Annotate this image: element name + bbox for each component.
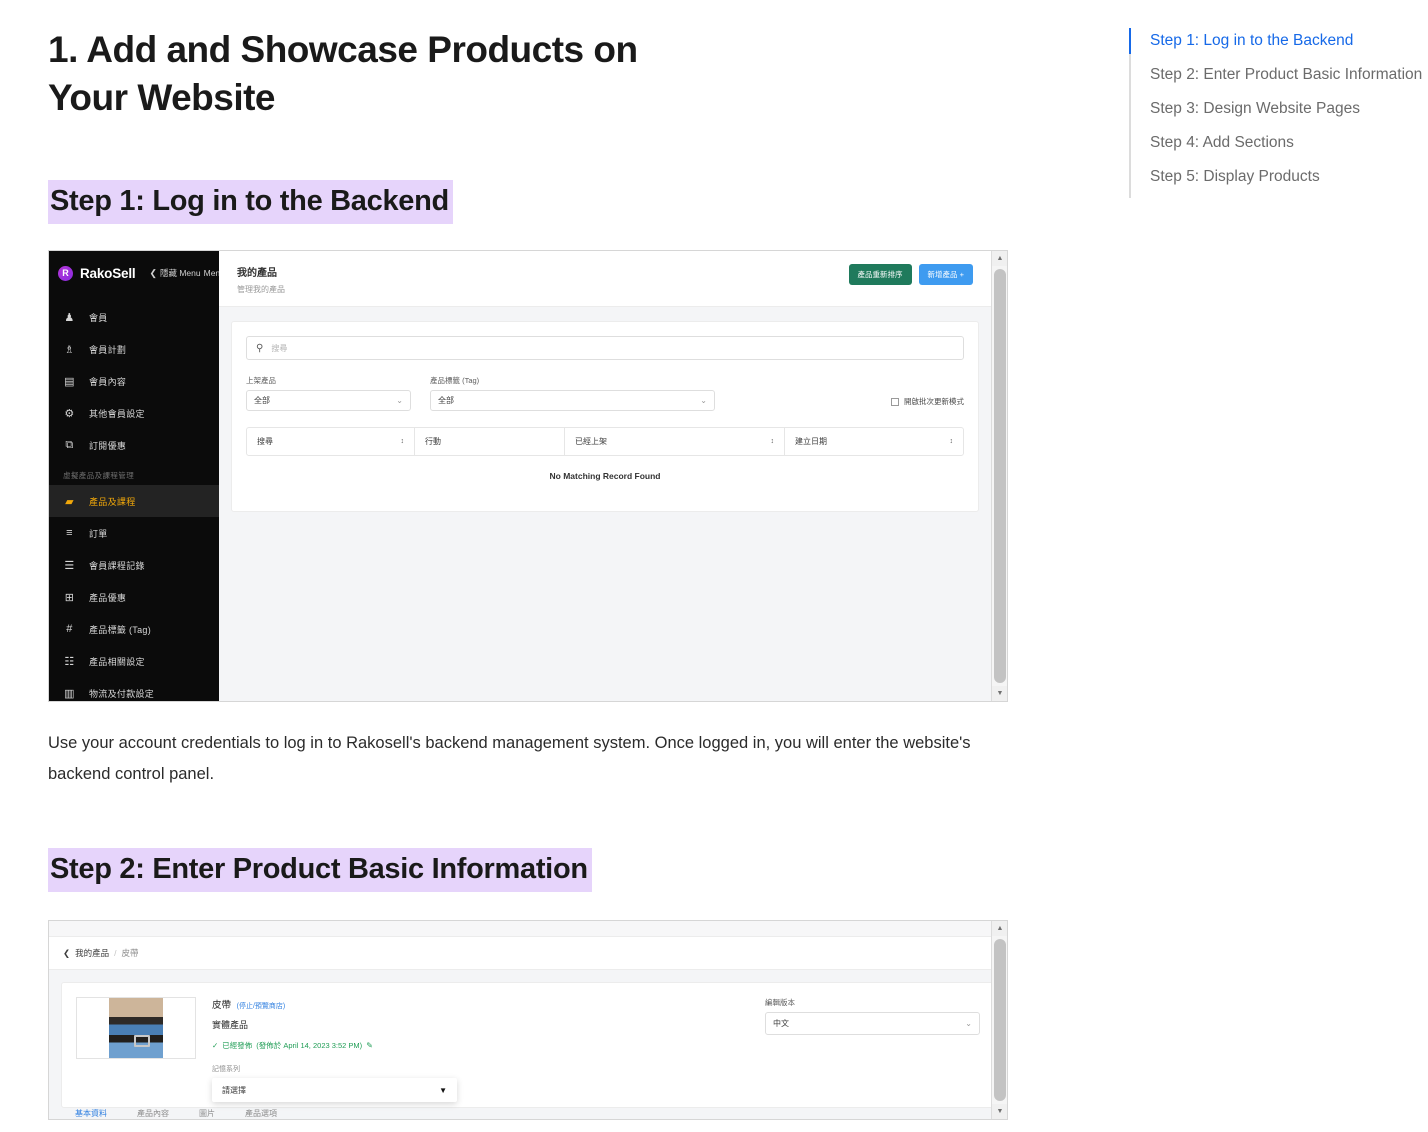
sidebar-item-subscription-offers[interactable]: ⧉ 訂閱優惠 xyxy=(49,429,219,461)
sidebar-item-member-course-records[interactable]: ☰ 會員課程記錄 xyxy=(49,549,219,581)
sidebar-item-product-settings[interactable]: ☷ 產品相關設定 xyxy=(49,645,219,677)
truck-icon: ▥ xyxy=(63,687,76,700)
hash-icon: # xyxy=(63,623,76,635)
tab-images[interactable]: 圖片 xyxy=(199,1108,215,1119)
rakosell-logo-icon: R xyxy=(58,266,73,281)
product-list-subtitle: 管理我的產品 xyxy=(237,284,285,295)
product-name: 皮帶 xyxy=(212,1000,231,1011)
edit-pencil-icon[interactable]: ✎ xyxy=(366,1041,373,1050)
products-table: 搜尋 ↕ 行動 已經上架 ↕ 建立日期 xyxy=(246,427,964,456)
toc-item-step-3[interactable]: Step 3: Design Website Pages xyxy=(1150,96,1428,121)
select-value: 全部 xyxy=(438,395,454,406)
batch-update-label: 開啟批次更新模式 xyxy=(904,396,964,407)
product-detail-tabs: 基本資料 產品內容 圖片 產品選項 xyxy=(75,1108,277,1119)
chevron-down-icon: ⌄ xyxy=(700,396,707,405)
tab-product-options[interactable]: 產品選項 xyxy=(245,1108,277,1119)
filter-product-tag: 產品標籤 (Tag) 全部 ⌄ xyxy=(430,375,715,411)
breadcrumb: ❮ 我的產品 / 皮帶 xyxy=(49,937,1007,970)
hide-menu-label: 隱藏 Menu xyxy=(160,267,201,279)
publish-status: ✓ 已經發佈 (發佈於 April 14, 2023 3:52 PM) ✎ xyxy=(212,1040,749,1051)
variant-value: 請選擇 xyxy=(222,1085,246,1096)
gear-icon: ⚙ xyxy=(63,407,76,420)
toc-item-step-1[interactable]: Step 1: Log in to the Backend xyxy=(1150,28,1428,53)
col-label: 建立日期 xyxy=(795,436,827,447)
sidebar-label: 會員 xyxy=(89,311,108,324)
product-detail-body: 皮帶 (停止/預覽商店) 實體產品 ✓ 已經發佈 (發佈於 April 14, … xyxy=(49,970,1007,1120)
sidebar-group-label: 虛擬產品及課程管理 xyxy=(49,470,219,481)
screenshot-backend-product-list: R RakoSell ❮ 隱藏 Menu Menu ♟ 會員 ♗ xyxy=(48,250,1008,702)
scroll-down-icon[interactable]: ▼ xyxy=(992,1104,1008,1119)
breadcrumb-current: 皮帶 xyxy=(122,947,139,959)
toc-item-step-5[interactable]: Step 5: Display Products xyxy=(1150,164,1428,189)
listed-products-select[interactable]: 全部 ⌄ xyxy=(246,390,411,411)
chevron-left-icon: ❮ xyxy=(149,268,157,279)
folder-icon: ▰ xyxy=(63,495,76,508)
table-col-action: 行動 xyxy=(415,428,565,455)
check-icon: ✓ xyxy=(212,1041,218,1050)
screenshot1-scrollbar[interactable]: ▲ ▼ xyxy=(991,251,1007,701)
filter-label: 產品標籤 (Tag) xyxy=(430,375,715,386)
filter-row: 上架產品 全部 ⌄ 產品標籤 (Tag) 全部 ⌄ xyxy=(246,375,964,411)
sidebar-label: 會員課程記錄 xyxy=(89,559,145,572)
chevron-down-icon: ⌄ xyxy=(965,1019,972,1028)
sidebar-label: 產品標籤 (Tag) xyxy=(89,623,151,636)
sidebar-item-shipping-payment[interactable]: ▥ 物流及付款設定 xyxy=(49,677,219,702)
col-label: 已經上架 xyxy=(575,436,607,447)
tag-icon: ⧉ xyxy=(63,439,76,452)
tab-product-content[interactable]: 產品內容 xyxy=(137,1108,169,1119)
sidebar-item-other-member-settings[interactable]: ⚙ 其他會員設定 xyxy=(49,397,219,429)
sidebar-label: 訂閱優惠 xyxy=(89,439,126,452)
search-input[interactable]: ⚲ 搜尋 xyxy=(246,336,964,360)
add-product-button[interactable]: 新增產品 + xyxy=(919,264,973,285)
sidebar-item-orders[interactable]: ≡ 訂單 xyxy=(49,517,219,549)
table-of-contents: Step 1: Log in to the Backend Step 2: En… xyxy=(1129,28,1428,198)
page-root: 1. Add and Showcase Products on Your Web… xyxy=(0,0,1428,1132)
sort-icon: ↕ xyxy=(771,438,775,445)
checkbox-box-icon xyxy=(891,398,899,406)
step2-heading-wrap: Step 2: Enter Product Basic Information xyxy=(48,848,1058,892)
product-tag-select[interactable]: 全部 ⌄ xyxy=(430,390,715,411)
toc-active-rule xyxy=(1129,28,1131,54)
rakosell-sidebar: R RakoSell ❮ 隱藏 Menu Menu ♟ 會員 ♗ xyxy=(49,251,219,701)
filter-label: 上架產品 xyxy=(246,375,411,386)
chevron-down-icon: ⌄ xyxy=(396,396,403,405)
step1-heading: Step 1: Log in to the Backend xyxy=(48,180,453,224)
publish-date: (發佈於 April 14, 2023 3:52 PM) xyxy=(256,1040,362,1051)
sidebar-label: 產品及課程 xyxy=(89,495,136,508)
product-list-title: 我的產品 xyxy=(237,264,285,279)
product-info: 皮帶 (停止/預覽商店) 實體產品 ✓ 已經發佈 (發佈於 April 14, … xyxy=(212,997,749,1093)
step2-heading: Step 2: Enter Product Basic Information xyxy=(48,848,592,892)
step1-paragraph: Use your account credentials to log in t… xyxy=(48,728,988,790)
search-icon: ⚲ xyxy=(256,343,263,354)
chevron-left-icon: ❮ xyxy=(63,948,70,959)
sidebar-label: 會員內容 xyxy=(89,375,126,388)
sidebar-label: 物流及付款設定 xyxy=(89,687,154,700)
product-list-titles: 我的產品 管理我的產品 xyxy=(237,264,285,295)
toc-item-step-2[interactable]: Step 2: Enter Product Basic Information xyxy=(1150,62,1428,87)
sidebar-item-member-content[interactable]: ▤ 會員內容 xyxy=(49,365,219,397)
language-label: 編輯版本 xyxy=(765,997,980,1008)
col-label: 行動 xyxy=(425,436,441,447)
sidebar-label: 產品優惠 xyxy=(89,591,126,604)
sort-icon: ↕ xyxy=(950,438,954,445)
hide-menu-button[interactable]: ❮ 隱藏 Menu Menu xyxy=(149,267,224,279)
scroll-up-icon[interactable]: ▲ xyxy=(992,251,1008,266)
sidebar-label: 訂單 xyxy=(89,527,108,540)
table-col-listed[interactable]: 已經上架 ↕ xyxy=(565,428,785,455)
sidebar-label: 會員計劃 xyxy=(89,343,126,356)
page-title: 1. Add and Showcase Products on Your Web… xyxy=(48,26,668,122)
product-title-row: 皮帶 (停止/預覽商店) xyxy=(212,997,749,1011)
product-list-actions: 產品重新排序 新增產品 + xyxy=(849,264,973,285)
variant-select[interactable]: 請選擇 ▼ xyxy=(212,1078,457,1102)
card-icon: ▤ xyxy=(63,375,76,388)
breadcrumb-separator: / xyxy=(114,948,116,958)
sidebar-item-products-and-courses[interactable]: ▰ 產品及課程 xyxy=(49,485,219,517)
rakosell-main-panel: 我的產品 管理我的產品 產品重新排序 新增產品 + ⚲ 搜尋 xyxy=(219,251,991,701)
table-header-row: 搜尋 ↕ 行動 已經上架 ↕ 建立日期 xyxy=(247,428,963,455)
users-icon: ♟ xyxy=(63,311,76,324)
belt-photo-image xyxy=(109,998,163,1058)
scroll-down-icon[interactable]: ▼ xyxy=(992,686,1008,701)
language-version-field: 編輯版本 中文 ⌄ xyxy=(765,997,980,1093)
sort-icon: ↕ xyxy=(401,438,405,445)
language-select[interactable]: 中文 ⌄ xyxy=(765,1012,980,1035)
product-list-header: 我的產品 管理我的產品 產品重新排序 新增產品 + xyxy=(219,251,991,307)
caret-down-icon: ▼ xyxy=(439,1086,447,1095)
toc-item-step-4[interactable]: Step 4: Add Sections xyxy=(1150,130,1428,155)
batch-update-checkbox[interactable]: 開啟批次更新模式 xyxy=(891,396,964,411)
table-col-created[interactable]: 建立日期 ↕ xyxy=(785,428,963,455)
sidebar-item-product-offers[interactable]: ⊞ 產品優惠 xyxy=(49,581,219,613)
sidebar-label: 產品相關設定 xyxy=(89,655,145,668)
trophy-icon: ♗ xyxy=(63,343,76,356)
rakosell-brand: R RakoSell ❮ 隱藏 Menu Menu xyxy=(49,258,219,288)
cart-icon: ≡ xyxy=(63,527,76,539)
store-icon: ⊞ xyxy=(63,591,76,604)
sidebar-item-product-tags[interactable]: # 產品標籤 (Tag) xyxy=(49,613,219,645)
table-col-search[interactable]: 搜尋 ↕ xyxy=(247,428,415,455)
sidebar-label: 其他會員設定 xyxy=(89,407,145,420)
language-value: 中文 xyxy=(773,1018,789,1029)
list-icon: ☰ xyxy=(63,559,76,572)
sidebar-item-members[interactable]: ♟ 會員 xyxy=(49,301,219,333)
search-placeholder: 搜尋 xyxy=(271,343,287,354)
product-thumbnail[interactable] xyxy=(76,997,196,1059)
scroll-up-icon[interactable]: ▲ xyxy=(992,921,1008,936)
scrollbar-thumb[interactable] xyxy=(994,269,1006,683)
rakosell-menu: ♟ 會員 ♗ 會員計劃 ▤ 會員內容 ⚙ 其他會員設定 xyxy=(49,301,219,702)
select-value: 全部 xyxy=(254,395,270,406)
reorder-products-button[interactable]: 產品重新排序 xyxy=(849,264,912,285)
empty-state-message: No Matching Record Found xyxy=(246,456,964,497)
sliders-icon: ☷ xyxy=(63,655,76,668)
product-detail-topbar xyxy=(49,921,1007,937)
variant-label: 記憶系列 xyxy=(212,1064,749,1074)
product-type: 實體產品 xyxy=(212,1018,749,1031)
publish-status-label: 已經發佈 xyxy=(222,1040,252,1051)
product-filter-card: ⚲ 搜尋 上架產品 全部 ⌄ 產品標籤 (Tag) xyxy=(231,321,979,512)
filter-listed-products: 上架產品 全部 ⌄ xyxy=(246,375,411,411)
col-label: 搜尋 xyxy=(257,436,273,447)
step1-heading-wrap: Step 1: Log in to the Backend xyxy=(48,180,1058,224)
screenshot-product-detail: ❮ 我的產品 / 皮帶 皮帶 (停止/預覽商店) 實體產品 xyxy=(48,920,1008,1120)
article-column: 1. Add and Showcase Products on Your Web… xyxy=(48,0,1058,1120)
tab-basic-info[interactable]: 基本資料 xyxy=(75,1108,107,1119)
product-summary-card: 皮帶 (停止/預覽商店) 實體產品 ✓ 已經發佈 (發佈於 April 14, … xyxy=(61,982,995,1108)
scrollbar-thumb[interactable] xyxy=(994,939,1006,1101)
rakosell-brand-name: RakoSell xyxy=(80,266,135,281)
preview-store-link[interactable]: (停止/預覽商店) xyxy=(237,1003,286,1010)
breadcrumb-root[interactable]: 我的產品 xyxy=(75,947,109,959)
screenshot2-scrollbar[interactable]: ▲ ▼ xyxy=(991,921,1007,1119)
sidebar-item-member-plans[interactable]: ♗ 會員計劃 xyxy=(49,333,219,365)
